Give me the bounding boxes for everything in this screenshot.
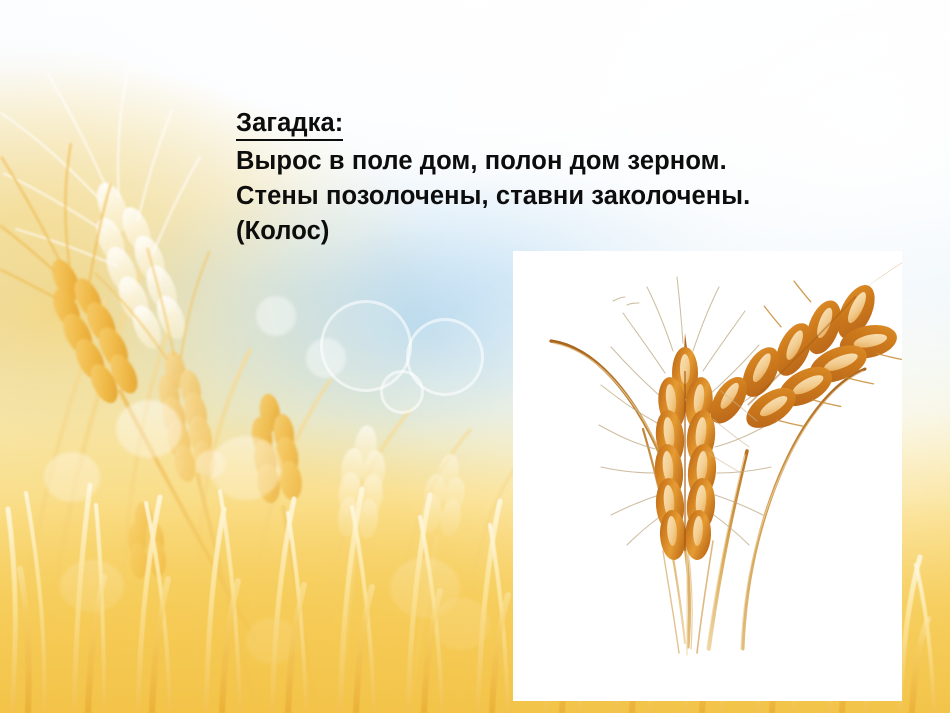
- riddle-line-1: Вырос в поле дом, полон дом зерном.: [236, 144, 896, 179]
- slide-canvas: Загадка: Вырос в поле дом, полон дом зер…: [0, 0, 950, 713]
- wheat-ear-center: [653, 333, 719, 561]
- bokeh-circle: [380, 370, 424, 414]
- bokeh-circle: [306, 338, 346, 378]
- bokeh-circle: [256, 296, 296, 336]
- wheat-ear-right: [688, 251, 902, 492]
- wheat-image-panel[interactable]: [513, 251, 902, 701]
- riddle-line-2: Стены позолочены, ставни заколочены.: [236, 179, 896, 214]
- riddle-text-block: Загадка: Вырос в поле дом, полон дом зер…: [236, 106, 896, 249]
- riddle-heading: Загадка:: [236, 108, 343, 141]
- riddle-answer: (Колос): [236, 214, 896, 249]
- wheat-illustration: [513, 251, 902, 701]
